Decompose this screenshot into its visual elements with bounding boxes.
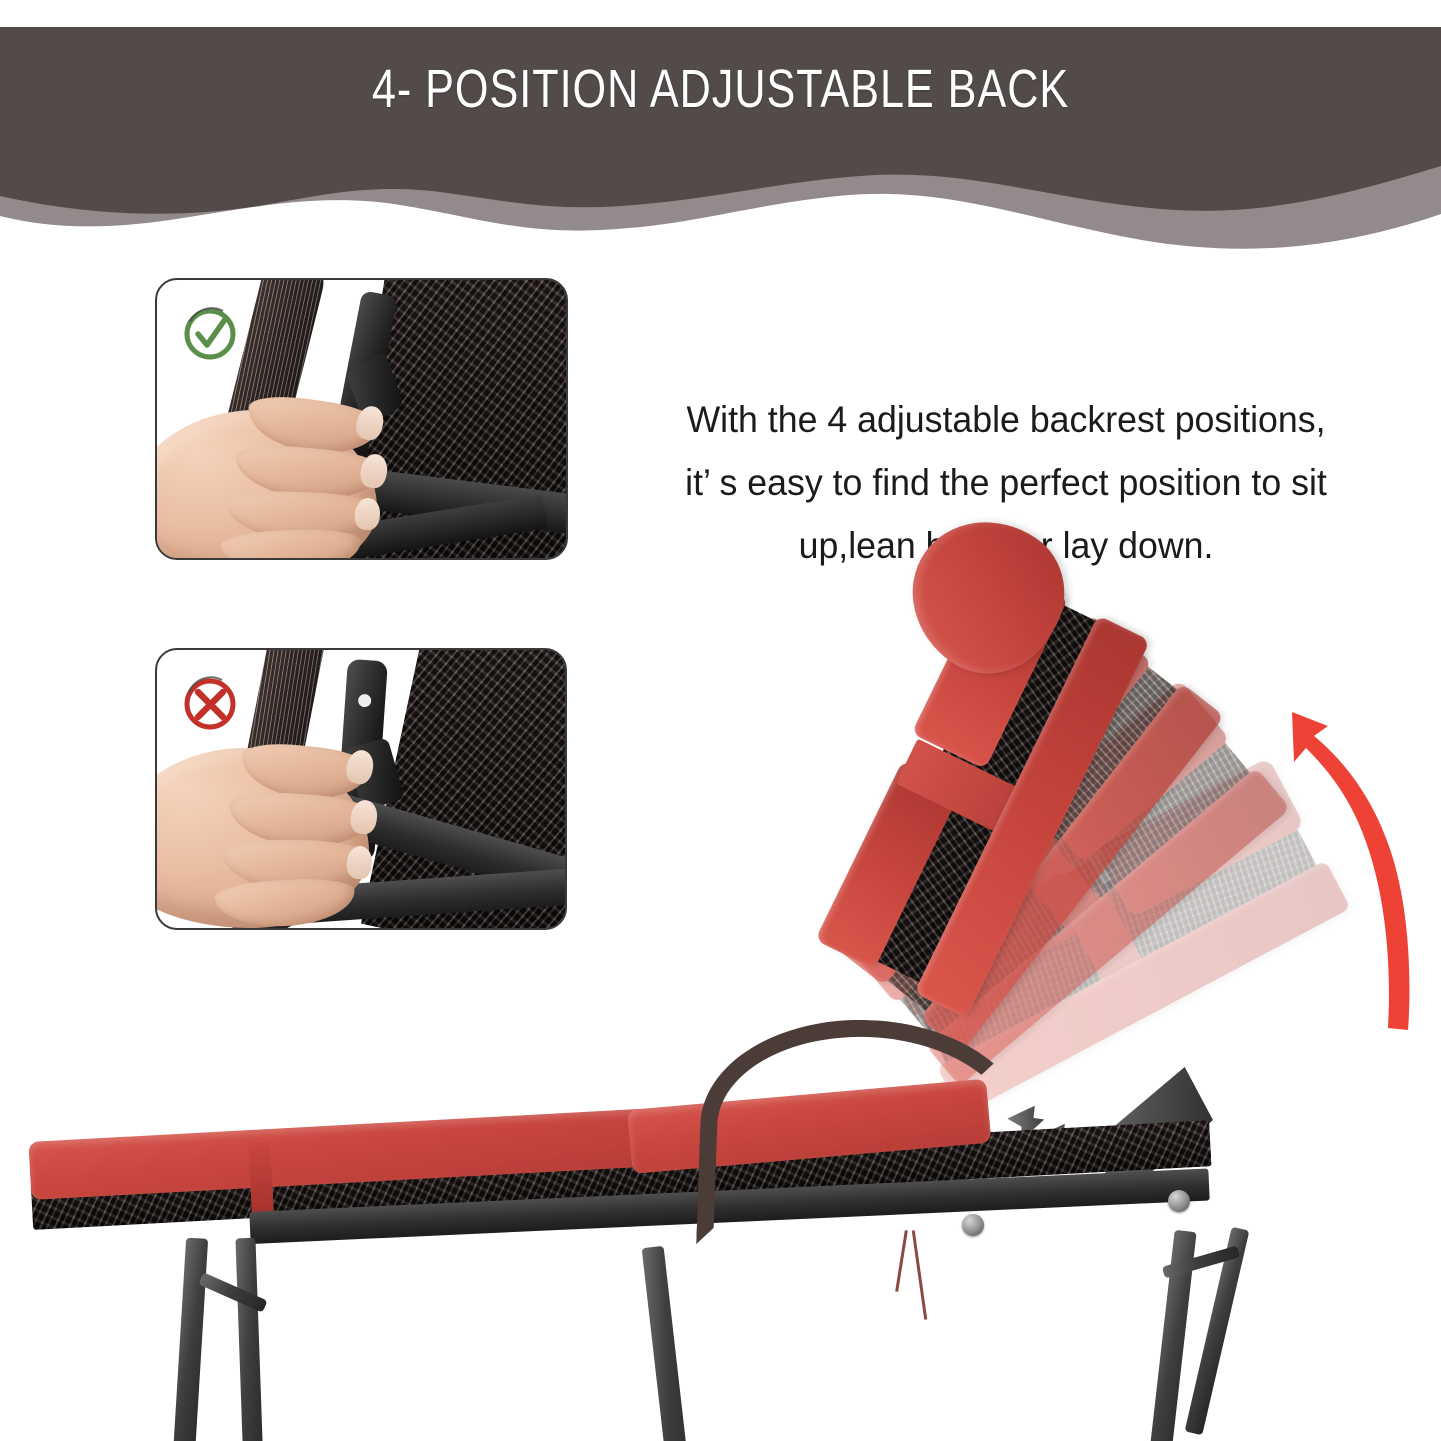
description-line-2: it’ s easy to find the perfect position … [614,451,1398,514]
curved-up-arrow-icon [1258,710,1428,1040]
front-leg-outer [170,1238,208,1441]
rear-leg-front [642,1246,701,1441]
front-leg-inner [235,1238,264,1441]
product-photo-chaise-lounge [0,690,1441,1441]
cushion-seam-strap [248,1141,274,1212]
description-line-1: With the 4 adjustable backrest positions… [614,388,1398,451]
header-banner: 4- POSITION ADJUSTABLE BACK [0,0,1441,270]
rail-rivet [1168,1190,1190,1212]
inset-card-correct-grip [155,278,568,560]
circle-check-icon [179,302,241,364]
page-title: 4- POSITION ADJUSTABLE BACK [144,58,1297,120]
header-wave-front [0,27,1441,214]
circle-cross-icon [179,672,241,734]
